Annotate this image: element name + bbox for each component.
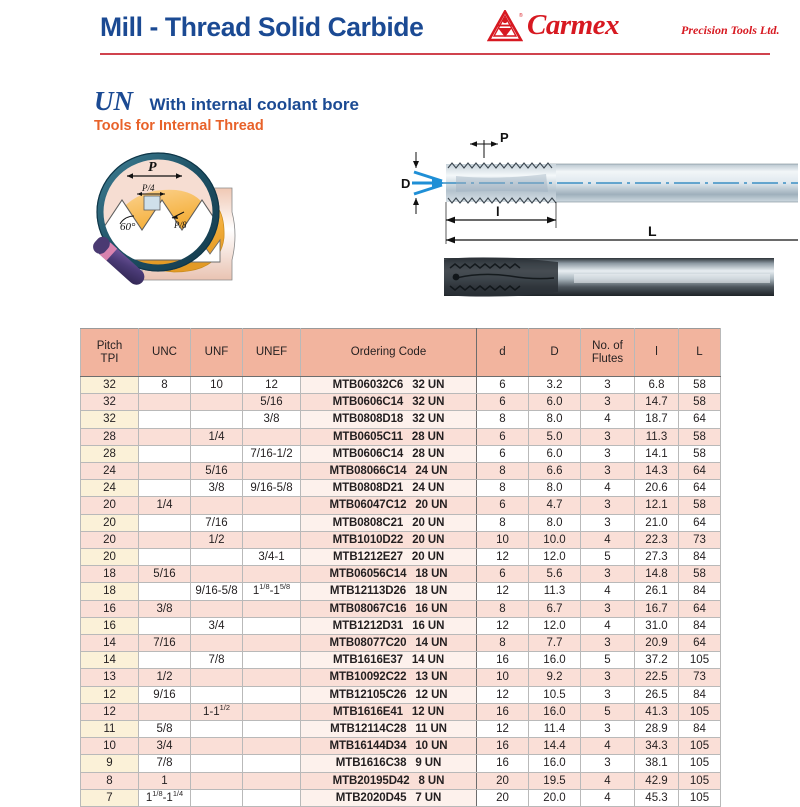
cell-number-of-flutes: 4 (581, 617, 635, 634)
cell-overall-length: 73 (679, 531, 721, 548)
cell-number-of-flutes: 4 (581, 480, 635, 497)
table-row[interactable]: 207/16MTB0808C2120 UN88.0321.064 (81, 514, 721, 531)
cell-unc: 3/4 (139, 738, 191, 755)
cell-shank-diameter: 6 (477, 394, 529, 411)
cell-pitch-tpi: 20 (81, 531, 139, 548)
cell-shank-diameter: 8 (477, 463, 529, 480)
cell-major-diameter: 20.0 (529, 789, 581, 806)
cell-major-diameter: 4.7 (529, 497, 581, 514)
cell-unc: 11/8-11/4 (139, 789, 191, 806)
brand-lockup: ® Carmex Precision Tools Ltd. (487, 8, 787, 48)
cell-unf: 1/2 (191, 531, 243, 548)
cell-unef (243, 789, 301, 806)
cell-pitch-tpi: 20 (81, 514, 139, 531)
table-row[interactable]: 287/16-1/2MTB0606C1428 UN66.0314.158 (81, 445, 721, 462)
cell-number-of-flutes: 3 (581, 514, 635, 531)
cell-shank-diameter: 12 (477, 721, 529, 738)
cell-unc: 5/8 (139, 721, 191, 738)
table-row[interactable]: 103/4MTB16144D3410 UN1614.4434.3105 (81, 738, 721, 755)
table-row[interactable]: 129/16MTB12105C2612 UN1210.5326.584 (81, 686, 721, 703)
section-heading: UN With internal coolant bore Tools for … (94, 86, 359, 134)
cell-number-of-flutes: 3 (581, 445, 635, 462)
cell-number-of-flutes: 4 (581, 583, 635, 600)
cell-overall-length: 64 (679, 514, 721, 531)
cell-ordering-code: MTB1616E3714 UN (301, 652, 477, 669)
cell-major-diameter: 12.0 (529, 549, 581, 566)
cell-number-of-flutes: 4 (581, 411, 635, 428)
cell-unf (191, 394, 243, 411)
cell-pitch-tpi: 11 (81, 721, 139, 738)
cell-ordering-code: MTB1212D3116 UN (301, 617, 477, 634)
cell-flute-length: 38.1 (635, 755, 679, 772)
cell-unef (243, 428, 301, 445)
cell-flute-length: 12.1 (635, 497, 679, 514)
cell-unc: 1/4 (139, 497, 191, 514)
cell-unef (243, 566, 301, 583)
cell-pitch-tpi: 24 (81, 480, 139, 497)
cell-flute-length: 20.6 (635, 480, 679, 497)
cell-unf: 3/8 (191, 480, 243, 497)
table-body: 3281012MTB06032C632 UN63.236.858325/16MT… (81, 377, 721, 807)
cell-overall-length: 58 (679, 428, 721, 445)
cell-ordering-code: MTB2020D457 UN (301, 789, 477, 806)
table-row[interactable]: 711/8-11/4MTB2020D457 UN2020.0445.3105 (81, 789, 721, 806)
cell-major-diameter: 16.0 (529, 652, 581, 669)
cell-number-of-flutes: 3 (581, 497, 635, 514)
page-header: Mill - Thread Solid Carbide ® Carmex Pre… (0, 0, 800, 62)
cell-pitch-tpi: 20 (81, 497, 139, 514)
cell-overall-length: 58 (679, 566, 721, 583)
table-row[interactable]: 81MTB20195D428 UN2019.5442.9105 (81, 772, 721, 789)
cell-unf: 1-11/2 (191, 703, 243, 720)
cell-unef (243, 600, 301, 617)
cell-flute-length: 21.0 (635, 514, 679, 531)
solid-carbide-thread-mill-dimension-drawing: D P d l L (398, 128, 798, 308)
column-header-ordering-code: Ordering Code (301, 329, 477, 377)
cell-flute-length: 26.5 (635, 686, 679, 703)
cell-overall-length: 105 (679, 772, 721, 789)
cell-unef (243, 635, 301, 652)
cell-unef (243, 772, 301, 789)
cell-unf (191, 755, 243, 772)
cell-ordering-code: MTB0606C1428 UN (301, 445, 477, 462)
svg-text:60°: 60° (120, 221, 136, 233)
cell-overall-length: 64 (679, 463, 721, 480)
column-header-unf: UNF (191, 329, 243, 377)
cell-unc (139, 617, 191, 634)
cell-number-of-flutes: 3 (581, 755, 635, 772)
cell-major-diameter: 6.0 (529, 445, 581, 462)
cell-pitch-tpi: 14 (81, 652, 139, 669)
cell-unef: 3/8 (243, 411, 301, 428)
cell-major-diameter: 14.4 (529, 738, 581, 755)
table-row[interactable]: 163/8MTB08067C1616 UN86.7316.764 (81, 600, 721, 617)
cell-overall-length: 73 (679, 669, 721, 686)
cell-unf (191, 789, 243, 806)
cell-unf (191, 566, 243, 583)
cell-overall-length: 58 (679, 445, 721, 462)
cell-unc (139, 652, 191, 669)
table-row[interactable]: 325/16MTB0606C1432 UN66.0314.758 (81, 394, 721, 411)
cell-major-diameter: 11.4 (529, 721, 581, 738)
cell-ordering-code: MTB12114C2811 UN (301, 721, 477, 738)
cell-unef: 11/8-15/8 (243, 583, 301, 600)
column-header-L: L (679, 329, 721, 377)
cell-major-diameter: 7.7 (529, 635, 581, 652)
column-header-d: d (477, 329, 529, 377)
cell-number-of-flutes: 5 (581, 703, 635, 720)
cell-unf (191, 411, 243, 428)
cell-shank-diameter: 8 (477, 514, 529, 531)
cell-ordering-code: MTB0808C2120 UN (301, 514, 477, 531)
cell-unc (139, 428, 191, 445)
cell-flute-length: 18.7 (635, 411, 679, 428)
cell-ordering-code: MTB08066C1424 UN (301, 463, 477, 480)
cell-flute-length: 14.8 (635, 566, 679, 583)
cell-ordering-code: MTB08077C2014 UN (301, 635, 477, 652)
cell-pitch-tpi: 24 (81, 463, 139, 480)
cell-shank-diameter: 6 (477, 445, 529, 462)
thread-profile-magnifier-illustration: P P/4 P/8 60° (86, 150, 348, 310)
table-row[interactable]: 147/8MTB1616E3714 UN1616.0537.2105 (81, 652, 721, 669)
cell-ordering-code: MTB1616C389 UN (301, 755, 477, 772)
cell-shank-diameter: 10 (477, 669, 529, 686)
cell-number-of-flutes: 5 (581, 549, 635, 566)
cell-shank-diameter: 16 (477, 703, 529, 720)
cell-ordering-code: MTB1616E4112 UN (301, 703, 477, 720)
thread-standard-code: UN (94, 86, 133, 117)
table-row[interactable]: 281/4MTB0605C1128 UN65.0311.358 (81, 428, 721, 445)
section-subtitle-secondary: Tools for Internal Thread (94, 118, 359, 134)
cell-shank-diameter: 16 (477, 755, 529, 772)
table-row[interactable]: 243/89/16-5/8MTB0808D2124 UN88.0420.664 (81, 480, 721, 497)
cell-number-of-flutes: 3 (581, 428, 635, 445)
cell-unf: 7/8 (191, 652, 243, 669)
cell-pitch-tpi: 12 (81, 703, 139, 720)
cell-number-of-flutes: 3 (581, 635, 635, 652)
cell-pitch-tpi: 16 (81, 617, 139, 634)
cell-overall-length: 64 (679, 480, 721, 497)
cell-pitch-tpi: 28 (81, 428, 139, 445)
cell-unc: 9/16 (139, 686, 191, 703)
table-row[interactable]: 203/4-1MTB1212E2720 UN1212.0527.384 (81, 549, 721, 566)
cell-overall-length: 64 (679, 600, 721, 617)
cell-pitch-tpi: 32 (81, 411, 139, 428)
cell-overall-length: 58 (679, 497, 721, 514)
cell-pitch-tpi: 28 (81, 445, 139, 462)
table-row[interactable]: 163/4MTB1212D3116 UN1212.0431.084 (81, 617, 721, 634)
cell-pitch-tpi: 8 (81, 772, 139, 789)
cell-flute-length: 20.9 (635, 635, 679, 652)
cell-unef (243, 738, 301, 755)
table-row[interactable]: 245/16MTB08066C1424 UN86.6314.364 (81, 463, 721, 480)
cell-shank-diameter: 8 (477, 411, 529, 428)
cell-number-of-flutes: 4 (581, 772, 635, 789)
svg-text:P: P (500, 130, 509, 145)
cell-major-diameter: 9.2 (529, 669, 581, 686)
cell-ordering-code: MTB0606C1432 UN (301, 394, 477, 411)
cell-unef: 3/4-1 (243, 549, 301, 566)
cell-unc (139, 531, 191, 548)
svg-text:P: P (148, 160, 157, 175)
cell-flute-length: 14.7 (635, 394, 679, 411)
cell-unef: 12 (243, 377, 301, 394)
cell-unef (243, 652, 301, 669)
cell-number-of-flutes: 3 (581, 721, 635, 738)
cell-ordering-code: MTB06032C632 UN (301, 377, 477, 394)
cell-major-diameter: 8.0 (529, 480, 581, 497)
cell-unef: 9/16-5/8 (243, 480, 301, 497)
column-header-D-major: D (529, 329, 581, 377)
column-header-unc: UNC (139, 329, 191, 377)
cell-ordering-code: MTB10092C2213 UN (301, 669, 477, 686)
cell-overall-length: 84 (679, 549, 721, 566)
table-row[interactable]: 121-11/2MTB1616E4112 UN1616.0541.3105 (81, 703, 721, 720)
cell-flute-length: 11.3 (635, 428, 679, 445)
cell-overall-length: 64 (679, 635, 721, 652)
cell-major-diameter: 19.5 (529, 772, 581, 789)
table-row[interactable]: 323/8MTB0808D1832 UN88.0418.764 (81, 411, 721, 428)
cell-shank-diameter: 8 (477, 480, 529, 497)
cell-unef (243, 463, 301, 480)
cell-shank-diameter: 12 (477, 583, 529, 600)
cell-unf: 3/4 (191, 617, 243, 634)
cell-shank-diameter: 20 (477, 789, 529, 806)
cell-shank-diameter: 6 (477, 497, 529, 514)
carmex-triangle-logo-icon: ® (487, 10, 523, 43)
cell-number-of-flutes: 5 (581, 652, 635, 669)
cell-flute-length: 27.3 (635, 549, 679, 566)
cell-major-diameter: 10.5 (529, 686, 581, 703)
cell-ordering-code: MTB0605C1128 UN (301, 428, 477, 445)
cell-unc: 3/8 (139, 600, 191, 617)
cell-ordering-code: MTB06047C1220 UN (301, 497, 477, 514)
cell-pitch-tpi: 18 (81, 566, 139, 583)
cell-number-of-flutes: 3 (581, 669, 635, 686)
cell-flute-length: 31.0 (635, 617, 679, 634)
cell-shank-diameter: 8 (477, 635, 529, 652)
cell-major-diameter: 16.0 (529, 755, 581, 772)
svg-text:D: D (401, 176, 410, 191)
cell-unf: 5/16 (191, 463, 243, 480)
cell-pitch-tpi: 10 (81, 738, 139, 755)
cell-number-of-flutes: 4 (581, 789, 635, 806)
svg-text:®: ® (519, 12, 523, 19)
page-title: Mill - Thread Solid Carbide (100, 12, 423, 43)
table-row[interactable]: 189/16-5/811/8-15/8MTB12113D2618 UN1211.… (81, 583, 721, 600)
cell-unf: 10 (191, 377, 243, 394)
cell-unc: 8 (139, 377, 191, 394)
cell-unf (191, 600, 243, 617)
cell-unef: 5/16 (243, 394, 301, 411)
cell-flute-length: 14.1 (635, 445, 679, 462)
cell-flute-length: 14.3 (635, 463, 679, 480)
brand-tagline: Precision Tools Ltd. (681, 23, 780, 38)
cell-ordering-code: MTB1010D2220 UN (301, 531, 477, 548)
cell-shank-diameter: 6 (477, 428, 529, 445)
cell-shank-diameter: 20 (477, 772, 529, 789)
cell-flute-length: 16.7 (635, 600, 679, 617)
column-header-pitch-tpi: PitchTPI (81, 329, 139, 377)
cell-shank-diameter: 16 (477, 652, 529, 669)
cell-major-diameter: 3.2 (529, 377, 581, 394)
cell-ordering-code: MTB08067C1616 UN (301, 600, 477, 617)
cell-shank-diameter: 12 (477, 549, 529, 566)
cell-major-diameter: 12.0 (529, 617, 581, 634)
cell-shank-diameter: 6 (477, 377, 529, 394)
column-header-l: l (635, 329, 679, 377)
table-row[interactable]: 97/8MTB1616C389 UN1616.0338.1105 (81, 755, 721, 772)
cell-unc (139, 411, 191, 428)
cell-shank-diameter: 8 (477, 600, 529, 617)
cell-unf (191, 635, 243, 652)
cell-pitch-tpi: 14 (81, 635, 139, 652)
cell-unef (243, 755, 301, 772)
thread-mill-product-photo (444, 257, 774, 296)
cell-unf: 9/16-5/8 (191, 583, 243, 600)
cell-unf (191, 669, 243, 686)
cell-shank-diameter: 16 (477, 738, 529, 755)
cell-flute-length: 45.3 (635, 789, 679, 806)
cell-major-diameter: 6.6 (529, 463, 581, 480)
cell-unc (139, 514, 191, 531)
cell-pitch-tpi: 32 (81, 377, 139, 394)
cell-flute-length: 42.9 (635, 772, 679, 789)
cell-unc: 7/8 (139, 755, 191, 772)
cell-unf (191, 445, 243, 462)
cell-unef (243, 617, 301, 634)
cell-unc: 1/2 (139, 669, 191, 686)
cell-overall-length: 84 (679, 721, 721, 738)
cell-overall-length: 105 (679, 738, 721, 755)
cell-unef (243, 514, 301, 531)
cell-pitch-tpi: 7 (81, 789, 139, 806)
cell-ordering-code: MTB0808D2124 UN (301, 480, 477, 497)
cell-unc (139, 480, 191, 497)
cell-unc (139, 549, 191, 566)
cell-pitch-tpi: 13 (81, 669, 139, 686)
cell-unc (139, 445, 191, 462)
cell-unf: 7/16 (191, 514, 243, 531)
cell-number-of-flutes: 3 (581, 566, 635, 583)
cell-ordering-code: MTB12113D2618 UN (301, 583, 477, 600)
cell-unf (191, 738, 243, 755)
cell-major-diameter: 5.6 (529, 566, 581, 583)
cell-ordering-code: MTB12105C2612 UN (301, 686, 477, 703)
cell-unc (139, 583, 191, 600)
cell-flute-length: 34.3 (635, 738, 679, 755)
svg-text:P/8: P/8 (173, 220, 187, 230)
cell-major-diameter: 10.0 (529, 531, 581, 548)
cell-unf (191, 549, 243, 566)
cell-overall-length: 84 (679, 617, 721, 634)
cell-pitch-tpi: 32 (81, 394, 139, 411)
section-subtitle: With internal coolant bore (149, 95, 359, 115)
column-header-flutes: No. ofFlutes (581, 329, 635, 377)
cell-flute-length: 37.2 (635, 652, 679, 669)
table-row[interactable]: 185/16MTB06056C1418 UN65.6314.858 (81, 566, 721, 583)
svg-text:l: l (496, 204, 500, 219)
cell-unc (139, 394, 191, 411)
cell-flute-length: 22.3 (635, 531, 679, 548)
cell-pitch-tpi: 20 (81, 549, 139, 566)
cell-unc (139, 703, 191, 720)
cell-pitch-tpi: 16 (81, 600, 139, 617)
cell-major-diameter: 6.7 (529, 600, 581, 617)
table-row[interactable]: 3281012MTB06032C632 UN63.236.858 (81, 377, 721, 394)
cell-overall-length: 84 (679, 583, 721, 600)
cell-overall-length: 58 (679, 377, 721, 394)
cell-flute-length: 41.3 (635, 703, 679, 720)
cell-ordering-code: MTB1212E2720 UN (301, 549, 477, 566)
table-row[interactable]: 115/8MTB12114C2811 UN1211.4328.984 (81, 721, 721, 738)
cell-unef (243, 703, 301, 720)
cell-unef: 7/16-1/2 (243, 445, 301, 462)
cell-overall-length: 105 (679, 652, 721, 669)
cell-overall-length: 84 (679, 686, 721, 703)
cell-number-of-flutes: 3 (581, 394, 635, 411)
cell-unf: 1/4 (191, 428, 243, 445)
cell-major-diameter: 11.3 (529, 583, 581, 600)
cell-overall-length: 105 (679, 789, 721, 806)
cell-major-diameter: 6.0 (529, 394, 581, 411)
table-row[interactable]: 201/4MTB06047C1220 UN64.7312.158 (81, 497, 721, 514)
cell-ordering-code: MTB0808D1832 UN (301, 411, 477, 428)
cell-unef (243, 686, 301, 703)
cell-unf (191, 497, 243, 514)
cell-unef (243, 721, 301, 738)
cell-shank-diameter: 6 (477, 566, 529, 583)
cell-major-diameter: 8.0 (529, 411, 581, 428)
cell-shank-diameter: 12 (477, 617, 529, 634)
cell-major-diameter: 5.0 (529, 428, 581, 445)
cell-shank-diameter: 10 (477, 531, 529, 548)
cell-unc: 7/16 (139, 635, 191, 652)
brand-name: Carmex (527, 9, 619, 42)
cell-overall-length: 105 (679, 755, 721, 772)
table-row[interactable]: 147/16MTB08077C2014 UN87.7320.964 (81, 635, 721, 652)
cell-unc: 1 (139, 772, 191, 789)
table-row[interactable]: 201/2MTB1010D2220 UN1010.0422.373 (81, 531, 721, 548)
cell-ordering-code: MTB16144D3410 UN (301, 738, 477, 755)
cell-overall-length: 64 (679, 411, 721, 428)
cell-pitch-tpi: 9 (81, 755, 139, 772)
svg-text:P/4: P/4 (141, 183, 155, 193)
cell-number-of-flutes: 3 (581, 463, 635, 480)
header-divider (100, 53, 770, 55)
cell-unf (191, 686, 243, 703)
cell-flute-length: 22.5 (635, 669, 679, 686)
cell-flute-length: 26.1 (635, 583, 679, 600)
cell-number-of-flutes: 4 (581, 738, 635, 755)
cell-unef (243, 497, 301, 514)
table-row[interactable]: 131/2MTB10092C2213 UN109.2322.573 (81, 669, 721, 686)
cell-number-of-flutes: 4 (581, 531, 635, 548)
cell-shank-diameter: 12 (477, 686, 529, 703)
table-header-row: PitchTPI UNC UNF UNEF Ordering Code d D … (81, 329, 721, 377)
cell-flute-length: 28.9 (635, 721, 679, 738)
specification-table: PitchTPI UNC UNF UNEF Ordering Code d D … (80, 328, 720, 807)
cell-ordering-code: MTB20195D428 UN (301, 772, 477, 789)
svg-text:L: L (648, 223, 657, 239)
cell-number-of-flutes: 3 (581, 686, 635, 703)
cell-unef (243, 531, 301, 548)
cell-unef (243, 669, 301, 686)
cell-number-of-flutes: 3 (581, 600, 635, 617)
cell-overall-length: 58 (679, 394, 721, 411)
cell-unf (191, 721, 243, 738)
cell-number-of-flutes: 3 (581, 377, 635, 394)
